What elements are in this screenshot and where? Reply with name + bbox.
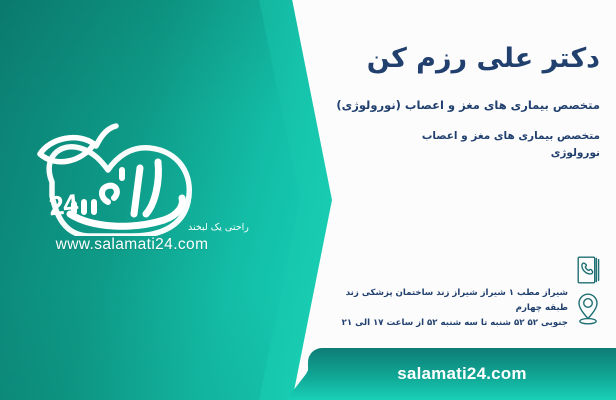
doctor-specialty-secondary: متخصص بیماری های مغز و اعصاب نورولوژی bbox=[308, 128, 600, 162]
svg-text:24: 24 bbox=[48, 189, 80, 222]
logo-website-url: www.salamati24.com bbox=[12, 236, 252, 254]
business-card: 24 به راحتی یک لبخند www.salamati24.com … bbox=[0, 0, 616, 400]
logo-tagline: به راحتی یک لبخند bbox=[188, 222, 252, 233]
specialty-secondary-line-1: متخصص بیماری های مغز و اعصاب bbox=[308, 128, 600, 145]
doctor-specialty-primary: متخصص بیماری های مغز و اعصاب (نورولوژی) bbox=[308, 97, 600, 114]
address-line-2: جنوبی ۵۲ ۵۲ شنبه تا سه شنبه ۵۲ از ساعت ۱… bbox=[320, 316, 568, 331]
map-pin-icon[interactable] bbox=[576, 292, 600, 326]
details-column: دکتر علی رزم کن متخصص بیماری های مغز و ا… bbox=[300, 0, 616, 400]
footer-bar: salamati24.com bbox=[308, 348, 616, 400]
doctor-name: دکتر علی رزم کن bbox=[310, 42, 600, 76]
logo-number-badge: 24 bbox=[48, 189, 80, 222]
footer-website[interactable]: salamati24.com bbox=[397, 364, 526, 384]
logo-wordmark-fa bbox=[70, 162, 182, 226]
clinic-address: شیراز مطب ۱ شیراز شیراز زند ساختمان پزشک… bbox=[320, 286, 568, 330]
address-line-1: شیراز مطب ۱ شیراز شیراز زند ساختمان پزشک… bbox=[320, 286, 568, 316]
specialty-secondary-line-2: نورولوژی bbox=[308, 145, 600, 162]
apple-logo-icon: 24 به راحتی یک لبخند bbox=[12, 118, 252, 236]
phone-book-icon[interactable] bbox=[576, 255, 602, 285]
brand-logo: 24 به راحتی یک لبخند www.salamati24.com bbox=[12, 118, 252, 268]
